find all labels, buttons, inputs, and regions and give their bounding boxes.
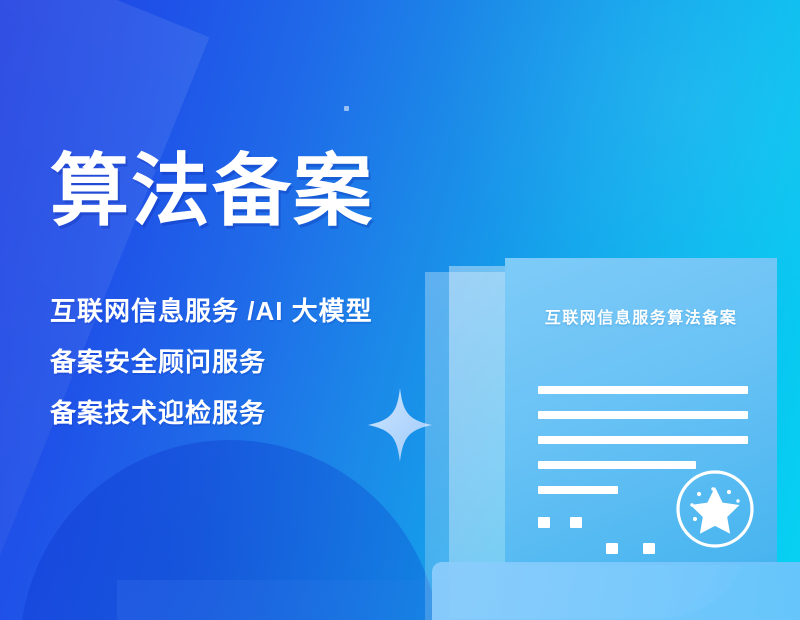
document-line (538, 461, 696, 469)
algorithm-filing-banner: 算法备案 互联网信息服务 /AI 大模型 备案安全顾问服务 备案技术迎检服务 互… (0, 0, 800, 620)
document-line (538, 486, 618, 494)
document-mark-square (606, 543, 618, 554)
document-line (538, 386, 748, 394)
document-mark-square (570, 517, 582, 528)
star-seal-icon (673, 467, 757, 551)
small-dot-decoration (344, 106, 349, 111)
document-line (538, 436, 748, 444)
bottom-light-band (432, 562, 800, 620)
document-card: 互联网信息服务算法备案 (505, 258, 777, 565)
document-mark-square (538, 517, 550, 528)
service-list-item-2: 备案安全顾问服务 (50, 349, 373, 375)
service-list: 互联网信息服务 /AI 大模型 备案安全顾问服务 备案技术迎检服务 (50, 298, 373, 426)
service-list-item-1: 互联网信息服务 /AI 大模型 (50, 298, 373, 324)
document-line (538, 411, 748, 419)
service-list-item-3: 备案技术迎检服务 (50, 400, 373, 426)
document-mark-square (643, 543, 655, 554)
document-card-title: 互联网信息服务算法备案 (505, 304, 777, 328)
bottom-shadow-band (117, 580, 447, 620)
sparkle-icon (368, 388, 432, 462)
page-title: 算法备案 (50, 148, 374, 233)
